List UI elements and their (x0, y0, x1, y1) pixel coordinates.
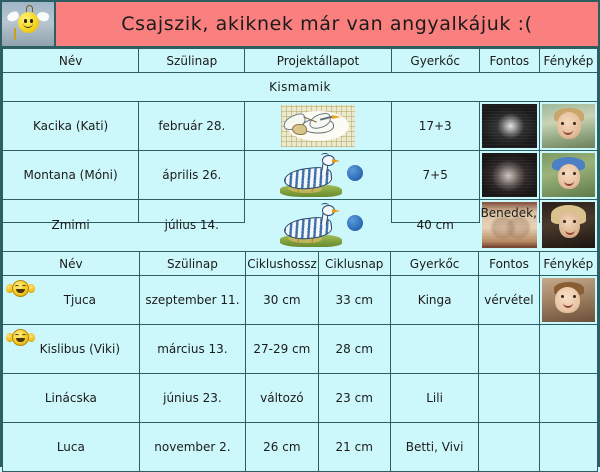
cell-ciklushossz: változó (246, 374, 318, 423)
standing-stork-with-blue-bundle-icon (272, 203, 364, 247)
table-row[interactable]: Linácska június 23. változó 23 cm Lili (3, 374, 598, 423)
column-header-nev[interactable]: Név (3, 49, 139, 73)
hand-right-icon (28, 333, 35, 342)
cell-fontos-ultrasound[interactable] (479, 102, 539, 151)
standing-stork-with-blue-bundle-icon (272, 153, 364, 197)
cell-gyerkoc: Betti, Vivi (390, 423, 478, 472)
laughing-smiley-icon (6, 329, 35, 346)
eye-icon (573, 122, 576, 125)
cell-ciklushossz: 27-29 cm (246, 325, 318, 374)
cell-nev-label: Kislibus (Viki) (22, 342, 120, 356)
cell-szulinap: február 28. (139, 102, 245, 151)
cell-fontos-ultrasound[interactable] (479, 151, 539, 200)
stork-beak-icon (332, 115, 341, 119)
ultrasound-photo (482, 202, 537, 248)
cell-fenykep-portrait[interactable] (539, 200, 597, 251)
column-header-fontos[interactable]: Fontos (479, 252, 539, 276)
column-header-gyerkoc[interactable]: Gyerkőc (390, 252, 478, 276)
cell-fenykep (539, 423, 597, 472)
cell-nev: Kacika (Kati) (3, 102, 139, 151)
cell-ciklushossz: 30 cm (246, 276, 318, 325)
column-header-ciklusnap[interactable]: Ciklusnap (318, 252, 390, 276)
section-title-kismamik: Kismamik (3, 73, 598, 102)
table-row[interactable]: Tjuca szeptember 11. 30 cm 33 cm Kinga v… (3, 276, 598, 325)
stork-beak-icon (332, 159, 340, 163)
cell-gyerkoc: 17+3 (391, 102, 479, 151)
cell-szulinap: szeptember 11. (139, 276, 246, 325)
stork-crest-icon (321, 203, 329, 208)
cell-nev: Tjuca (3, 276, 140, 325)
stork-beak-icon (332, 209, 340, 213)
kismamik-table: Név Szülinap Projektállapot Gyerkőc Font… (2, 48, 598, 251)
cell-szulinap: november 2. (139, 423, 246, 472)
flying-stork-with-bundle-icon (245, 102, 390, 150)
cell-fenykep-portrait[interactable] (539, 151, 597, 200)
cell-ciklusnap: 21 cm (318, 423, 390, 472)
column-header-projektallapot[interactable]: Projektállapot (245, 49, 391, 73)
blue-bundle-icon (347, 215, 363, 231)
ultrasound-photo (482, 153, 537, 197)
eye-icon (561, 122, 564, 125)
table-row[interactable]: Montana (Móni) április 26. (3, 151, 598, 200)
cell-gyerkoc (390, 325, 478, 374)
cell-szulinap: június 23. (139, 374, 246, 423)
cell-fontos (479, 325, 539, 374)
blonde-woman-portrait-photo (542, 202, 595, 248)
cell-projektallapot (245, 102, 391, 151)
eye-icon (573, 295, 576, 298)
cell-nev: Linácska (3, 374, 140, 423)
bee-stick-icon (14, 28, 16, 40)
cell-gyerkoc: Kinga (390, 276, 478, 325)
cell-fontos: vérvétel (479, 276, 539, 325)
laughing-smiley-icon (6, 280, 35, 297)
hand-right-icon (28, 284, 35, 293)
cell-fenykep-portrait[interactable] (539, 102, 597, 151)
golyavarok-header-row: Név Szülinap Ciklushossz Ciklusnap Gyerk… (3, 252, 598, 276)
cell-nev: Montana (Móni) (3, 151, 139, 200)
column-header-fenykep[interactable]: Fénykép (539, 49, 597, 73)
cell-gyerkoc: 7+5 (391, 151, 479, 200)
column-header-fontos[interactable]: Fontos (479, 49, 539, 73)
table-row[interactable]: Luca november 2. 26 cm 21 cm Betti, Vivi (3, 423, 598, 472)
blue-bundle-icon (347, 165, 363, 181)
column-header-fenykep[interactable]: Fénykép (539, 252, 597, 276)
face-icon (555, 287, 580, 313)
cell-fontos (479, 374, 539, 423)
cell-nev: Luca (3, 423, 140, 472)
cell-nev-label: Tjuca (46, 293, 96, 307)
column-header-ciklushossz[interactable]: Ciklushossz (246, 252, 318, 276)
column-header-gyerkoc[interactable]: Gyerkőc (391, 49, 479, 73)
table-row[interactable]: Kacika (Kati) február 28. (3, 102, 598, 151)
cell-fenykep (539, 325, 597, 374)
bee-smiley-icon (15, 9, 41, 35)
kismamik-header-row: Név Szülinap Projektállapot Gyerkőc Font… (3, 49, 598, 73)
cell-fenykep-portrait[interactable] (539, 276, 597, 325)
ultrasound-photo (482, 104, 537, 148)
child-portrait-photo (542, 104, 595, 148)
column-header-szulinap[interactable]: Szülinap (139, 49, 245, 73)
face-icon (557, 112, 581, 139)
page-root: Csajszik, akiknek már van angyalkájuk :(… (0, 0, 600, 467)
page-title-cell: Csajszik, akiknek már van angyalkájuk :( (56, 2, 598, 46)
bee-icon-cell (2, 2, 56, 46)
eye-icon (561, 295, 564, 298)
baby-bundle-icon (292, 124, 307, 135)
bee-antenna-icon (26, 5, 33, 12)
cell-ciklusnap: 28 cm (318, 325, 390, 374)
cell-projektallapot (245, 200, 391, 251)
cell-gyerkoc: Lili (390, 374, 478, 423)
cell-ciklusnap: 23 cm (318, 374, 390, 423)
cell-fenykep (539, 374, 597, 423)
table-row[interactable]: Kislibus (Viki) március 13. 27-29 cm 28 … (3, 325, 598, 374)
cell-fontos (479, 423, 539, 472)
cell-projektallapot (245, 151, 391, 200)
stork-crest-icon (321, 153, 329, 158)
section-header-row-kismamik: Kismamik (3, 73, 598, 102)
smiley-face-icon (12, 329, 29, 346)
page-title: Csajszik, akiknek már van angyalkájuk :( (121, 13, 532, 35)
baby-girl-portrait-photo (542, 278, 595, 322)
golyavarok-table: Gólyavárók Név Szülinap Ciklushossz Cikl… (2, 222, 598, 472)
cell-szulinap: március 13. (139, 325, 246, 374)
title-banner: Csajszik, akiknek már van angyalkájuk :( (2, 2, 598, 48)
woman-with-blue-hat-portrait-photo (542, 153, 595, 197)
smiley-face-icon (12, 280, 29, 297)
cell-nev: Kislibus (Viki) (3, 325, 140, 374)
cell-fontos-ultrasound[interactable] (479, 200, 539, 251)
cell-ciklusnap: 33 cm (318, 276, 390, 325)
column-header-szulinap[interactable]: Szülinap (139, 252, 246, 276)
column-header-nev[interactable]: Név (3, 252, 140, 276)
cell-szulinap: április 26. (139, 151, 245, 200)
cell-ciklushossz: 26 cm (246, 423, 318, 472)
